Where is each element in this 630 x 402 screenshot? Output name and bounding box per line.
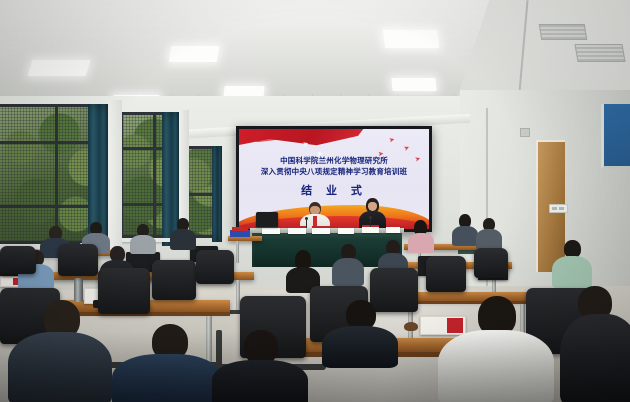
attendee-11-body bbox=[332, 258, 364, 286]
attendee-foreground-mid bbox=[322, 300, 398, 360]
dove-icon-4: ➤ bbox=[388, 136, 395, 144]
attendee-5 bbox=[408, 220, 434, 250]
screen-line-1: 中国科学院兰州化学物理研究所 bbox=[239, 155, 429, 166]
ceiling-light-1 bbox=[28, 60, 91, 76]
right-blue-window bbox=[601, 104, 630, 169]
conference-room-photo: ➤ ➤ ➤ ➤ ➤ ➤ ➤ 中国科学院兰州化学物理研究所 深入贯彻中央八项规定精… bbox=[0, 0, 630, 402]
attendee-6-body bbox=[452, 226, 478, 246]
attendee-fg-fr-body bbox=[560, 314, 630, 402]
wall-sensor bbox=[520, 128, 530, 137]
attendee-13-body bbox=[552, 256, 592, 288]
side-table-leg bbox=[236, 241, 239, 263]
dove-icon-5: ➤ bbox=[403, 144, 411, 153]
attendee-foreground-right bbox=[438, 296, 554, 402]
attendee-foreground-center bbox=[112, 324, 222, 402]
chair-9[interactable] bbox=[474, 248, 508, 278]
table-microphone-2 bbox=[370, 218, 371, 227]
chair-11[interactable] bbox=[58, 244, 98, 276]
attendee-fg-center-body bbox=[112, 354, 222, 402]
attendee-4-body bbox=[170, 229, 196, 250]
ceiling-vent-1 bbox=[539, 24, 588, 40]
head-table-name-card-3 bbox=[312, 226, 330, 234]
attendee-foreground-midleft bbox=[212, 330, 308, 402]
light-switch[interactable] bbox=[549, 204, 568, 213]
attendee-foreground-far-right bbox=[560, 286, 630, 402]
screen-line-2: 深入贯彻中央八项规定精神学习教育培训班 bbox=[239, 166, 429, 177]
folder-red bbox=[232, 227, 248, 231]
screen-title: 结 业 式 bbox=[239, 182, 429, 198]
wall-pier-1 bbox=[108, 100, 122, 250]
attendee-fg-mid-body bbox=[322, 326, 398, 368]
attendee-foreground-left bbox=[8, 300, 112, 402]
wooden-ornament bbox=[404, 322, 418, 331]
attendee-4 bbox=[170, 218, 196, 248]
attendee-7-body bbox=[476, 229, 502, 250]
table-microphone-1 bbox=[306, 219, 307, 228]
chair-8[interactable] bbox=[426, 256, 466, 292]
folder-blue bbox=[230, 230, 250, 237]
attendee-13 bbox=[552, 240, 592, 286]
attendee-fg-left-body bbox=[8, 332, 112, 402]
attendee-5-body bbox=[408, 233, 434, 253]
chair-3[interactable] bbox=[152, 260, 196, 300]
thermos-bottle bbox=[74, 278, 83, 302]
attendee-10 bbox=[286, 250, 320, 290]
window-1-mullion bbox=[55, 107, 58, 241]
curtain-3[interactable] bbox=[212, 146, 222, 242]
presenter-laptop[interactable] bbox=[256, 212, 278, 227]
ceiling-light-8 bbox=[391, 78, 436, 91]
window-2-mullion bbox=[153, 115, 156, 235]
attendee-fg-right-body bbox=[438, 330, 554, 402]
head-table-name-card-4 bbox=[338, 226, 354, 234]
head-table-name-card-6 bbox=[386, 225, 400, 233]
chair-12[interactable] bbox=[0, 246, 36, 274]
attendee-fg-ml-head bbox=[244, 330, 278, 364]
head-table-name-card-2 bbox=[288, 226, 306, 234]
head-table-name-card-1 bbox=[262, 226, 280, 234]
ceiling-light-4 bbox=[169, 46, 220, 62]
speaker-right-face bbox=[368, 202, 377, 211]
chair-4[interactable] bbox=[196, 250, 234, 284]
ceiling-light-7 bbox=[383, 30, 440, 48]
attendee-11 bbox=[332, 244, 364, 284]
attendee-6 bbox=[452, 214, 478, 244]
attendee-7 bbox=[476, 218, 502, 248]
attendee-fg-ml-body bbox=[212, 360, 308, 402]
ceiling-vent-2 bbox=[574, 44, 625, 62]
